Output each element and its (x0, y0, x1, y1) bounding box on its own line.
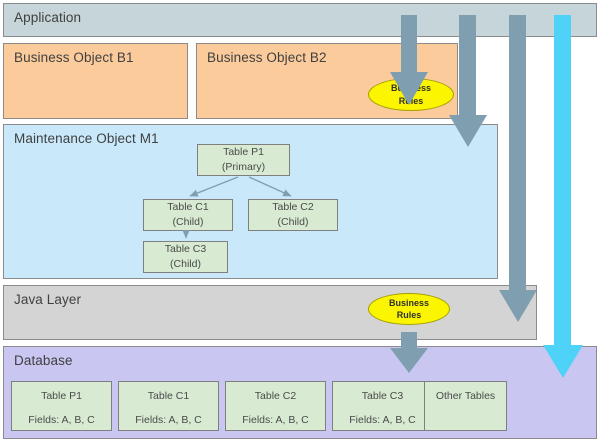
db-table-c2[interactable]: Table C2 Fields: A, B, C (225, 381, 326, 431)
db-table-p1[interactable]: Table P1 Fields: A, B, C (11, 381, 112, 431)
db-table-c3[interactable]: Table C3 Fields: A, B, C (332, 381, 433, 431)
db-table-c2-fields: Fields: A, B, C (226, 414, 325, 426)
business-rules-badge-java-layer-line2: Rules (397, 309, 422, 321)
db-table-p1-fields: Fields: A, B, C (12, 414, 111, 426)
business-rules-badge-business-object[interactable]: Business Rules (368, 78, 454, 111)
db-table-c2-name: Table C2 (226, 390, 325, 402)
db-table-c1-fields: Fields: A, B, C (119, 414, 218, 426)
business-rules-badge-java-layer[interactable]: Business Rules (368, 293, 450, 325)
db-table-c1[interactable]: Table C1 Fields: A, B, C (118, 381, 219, 431)
db-table-c1-name: Table C1 (119, 390, 218, 402)
db-table-other[interactable]: Other Tables (424, 381, 507, 431)
diagram-canvas: Application Business Object B1 Business … (0, 0, 600, 442)
link-p1-to-c1 (190, 177, 238, 196)
db-table-other-name: Other Tables (425, 390, 506, 402)
business-rules-badge-java-layer-line1: Business (389, 297, 429, 309)
table-link-arrows (0, 0, 600, 442)
business-rules-badge-business-object-line1: Business (391, 82, 431, 94)
link-p1-to-c2 (249, 177, 291, 196)
db-table-c3-fields: Fields: A, B, C (333, 414, 432, 426)
db-table-c3-name: Table C3 (333, 390, 432, 402)
db-table-p1-name: Table P1 (12, 390, 111, 402)
business-rules-badge-business-object-line2: Rules (399, 95, 424, 107)
